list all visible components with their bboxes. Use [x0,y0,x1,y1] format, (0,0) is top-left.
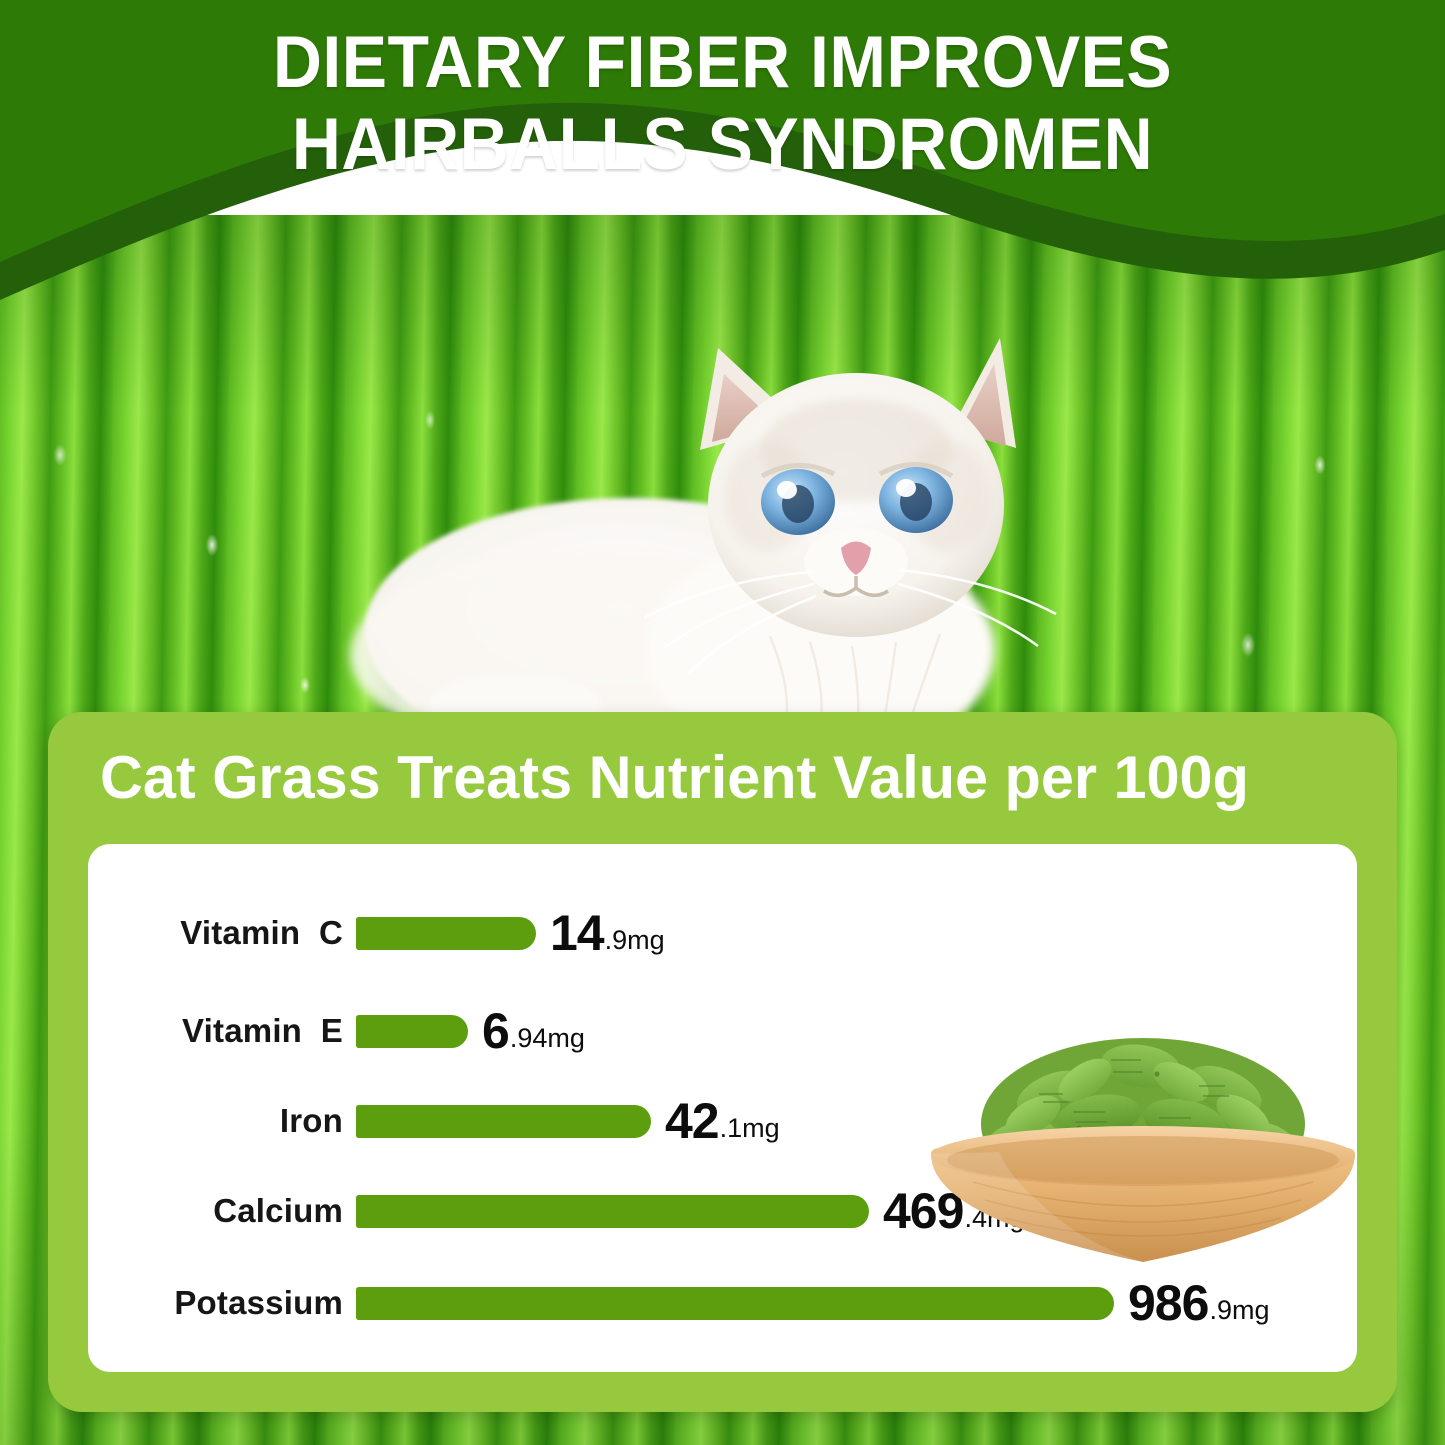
nutrient-bar [356,1105,651,1138]
banner-title: DIETARY FIBER IMPROVES HAIRBALLS SYNDROM… [51,22,1395,186]
nutrient-value-integer: 14 [550,908,604,958]
nutrient-label: Vitamin C [88,906,343,960]
nutrient-label: Calcium [88,1184,343,1238]
nutrient-bar [356,917,536,950]
nutrient-bar [356,1015,468,1048]
nutrient-value: 986.9mg [1128,1276,1269,1330]
nutrient-panel: Vitamin C14.9mgVitamin E6.94mgIron42.1mg… [88,844,1357,1372]
nutrient-row: Vitamin C14.9mg [88,906,1357,960]
nutrient-value-integer: 986 [1128,1278,1208,1328]
nutrient-value-suffix: .1mg [720,1115,780,1142]
nutrient-bar [356,1287,1114,1320]
nutrient-label: Potassium [88,1276,343,1330]
nutrient-value: 42.1mg [665,1094,780,1148]
nutrient-value-integer: 42 [665,1096,719,1146]
treats-bowl-photo [913,1004,1373,1269]
ragdoll-cat-photo [300,300,1140,730]
infographic-page: DIETARY FIBER IMPROVES HAIRBALLS SYNDROM… [0,0,1445,1445]
nutrient-value: 14.9mg [550,906,665,960]
nutrient-value-suffix: .94mg [510,1025,585,1052]
nutrient-label: Iron [88,1094,343,1148]
header-banner: DIETARY FIBER IMPROVES HAIRBALLS SYNDROM… [0,0,1445,300]
nutrient-bar [356,1195,869,1228]
nutrient-value-suffix: .9mg [1209,1297,1269,1324]
nutrient-value: 6.94mg [482,1004,585,1058]
nutrient-value-integer: 6 [482,1006,509,1056]
nutrient-card: Cat Grass Treats Nutrient Value per 100g… [48,712,1397,1412]
nutrient-value-suffix: .9mg [605,927,665,954]
card-title: Cat Grass Treats Nutrient Value per 100g [100,748,1338,808]
nutrient-row: Potassium986.9mg [88,1276,1357,1330]
nutrient-label: Vitamin E [88,1004,343,1058]
